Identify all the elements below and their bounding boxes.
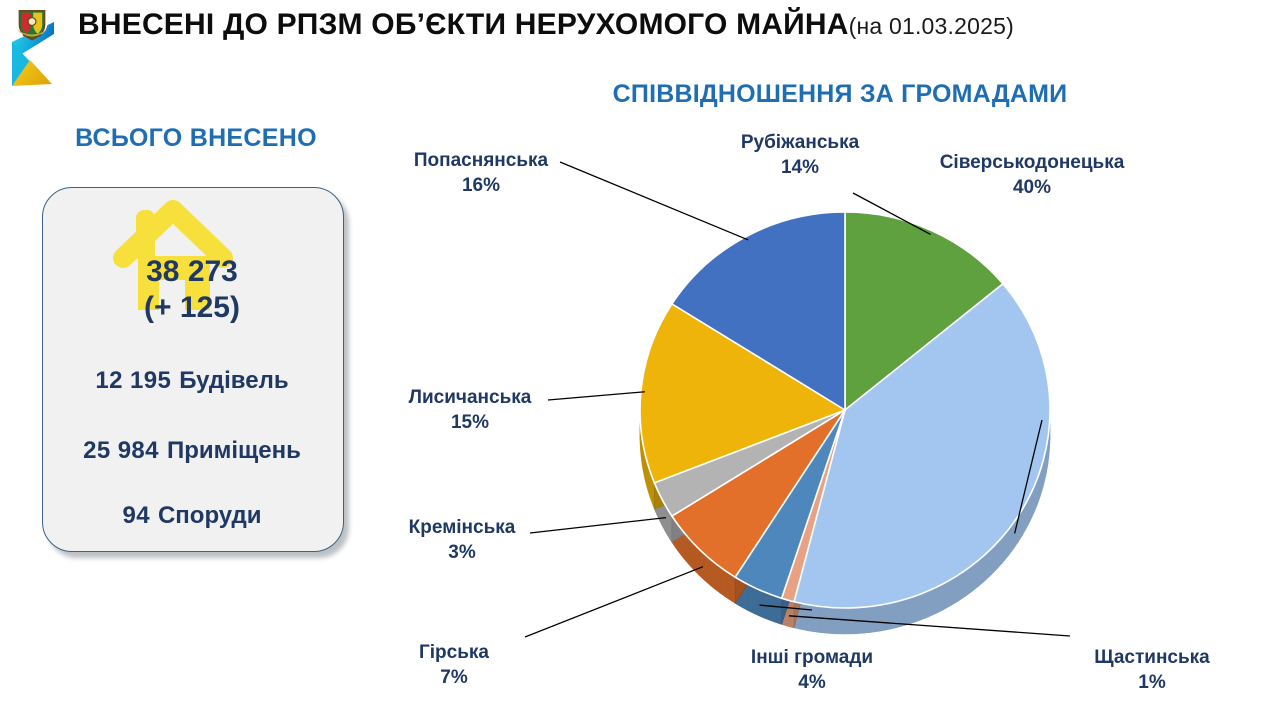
total-objects-count: 38 273 <box>42 255 342 289</box>
page-title: ВНЕСЕНІ ДО РПЗМ ОБ’ЄКТИ НЕРУХОМОГО МАЙНА… <box>78 8 1014 42</box>
stat-label: Будівель <box>179 367 288 394</box>
stat-row: 94Споруди <box>42 502 342 530</box>
stat-value: 25 984 <box>83 437 159 464</box>
stat-label: Споруди <box>158 502 262 529</box>
pie-label-name: Гірська <box>419 642 489 663</box>
pie-label-1: Рубіжанська14% <box>670 130 930 180</box>
pie-label-7: Лисичанська15% <box>340 385 600 435</box>
pie-label-percent: 16% <box>351 173 611 198</box>
stat-label: Приміщень <box>167 437 301 464</box>
pie-label-4: Інші громади4% <box>682 645 942 695</box>
pie-label-6: Кремінська3% <box>332 515 592 565</box>
total-section-heading: ВСЬОГО ВНЕСЕНО <box>36 124 356 153</box>
page-title-date: (на 01.03.2025) <box>849 13 1014 39</box>
pie-label-name: Лисичанська <box>409 387 532 408</box>
leader-line <box>525 567 703 637</box>
pie-label-8: Попаснянська16% <box>351 148 611 198</box>
pie-label-percent: 3% <box>332 540 592 565</box>
pie-label-name: Інші громади <box>751 647 873 668</box>
pie-label-name: Щастинська <box>1094 647 1210 668</box>
pie-label-name: Рубіжанська <box>741 132 859 153</box>
pie-label-2: Сіверськодонецька40% <box>902 150 1162 200</box>
pie-label-percent: 40% <box>902 175 1162 200</box>
pie-label-percent: 15% <box>340 410 600 435</box>
stat-value: 12 195 <box>95 367 171 394</box>
pie-label-percent: 14% <box>670 155 930 180</box>
stat-row: 25 984Приміщень <box>42 437 342 465</box>
pie-label-name: Кремінська <box>409 517 516 538</box>
stat-value: 94 <box>122 502 150 529</box>
pie-label-name: Сіверськодонецька <box>940 152 1125 173</box>
coat-of-arms-ribbon-logo <box>4 4 66 96</box>
pie-label-percent: 1% <box>1022 670 1280 695</box>
pie-label-5: Гірська7% <box>324 640 584 690</box>
stat-row: 12 195Будівель <box>42 367 342 395</box>
pie-label-percent: 7% <box>324 665 584 690</box>
page-header: ВНЕСЕНІ ДО РПЗМ ОБ’ЄКТИ НЕРУХОМОГО МАЙНА… <box>0 0 1280 72</box>
total-objects-delta: (+ 125) <box>42 291 342 325</box>
page-title-text: ВНЕСЕНІ ДО РПЗМ ОБ’ЄКТИ НЕРУХОМОГО МАЙНА <box>78 8 849 41</box>
pie-label-name: Попаснянська <box>414 150 548 171</box>
chart-title: СПІВВІДНОШЕННЯ ЗА ГРОМАДАМИ <box>560 80 1120 109</box>
pie-label-3: Щастинська1% <box>1022 645 1280 695</box>
pie-label-percent: 4% <box>682 670 942 695</box>
